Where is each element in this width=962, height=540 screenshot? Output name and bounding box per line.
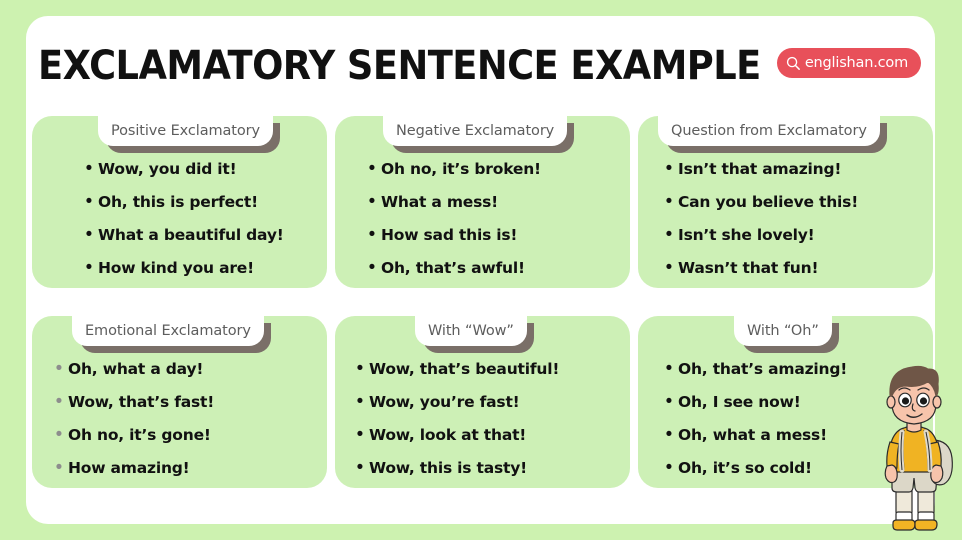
sentence-text: Oh, that’s awful! (381, 252, 525, 285)
bullet-icon: • (80, 218, 98, 251)
list-item: • Wow, you did it! (80, 152, 317, 185)
sentence-text: Wow, you did it! (98, 153, 236, 186)
sentence-text: Isn’t that amazing! (678, 153, 841, 186)
card-title: With “Oh” (747, 324, 819, 339)
bullet-icon: • (80, 185, 98, 218)
sentence-list: • Wow, that’s beautiful! • Wow, you’re f… (335, 352, 620, 484)
list-item: • Oh, that’s awful! (363, 251, 620, 284)
category-card-with-wow: With “Wow” • Wow, that’s beautiful! • Wo… (335, 316, 630, 488)
sentence-text: How amazing! (68, 452, 190, 485)
card-title: Emotional Exclamatory (85, 324, 251, 339)
list-item: • What a beautiful day! (80, 218, 317, 251)
bullet-icon: • (660, 251, 678, 284)
list-item: • How kind you are! (80, 251, 317, 284)
boy-with-backpack-illustration (866, 360, 962, 535)
bullet-icon: • (660, 352, 678, 385)
sentence-text: What a beautiful day! (98, 219, 284, 252)
bullet-icon: • (660, 152, 678, 185)
sentence-text: Wow, that’s fast! (68, 386, 214, 419)
bullet-icon: • (80, 152, 98, 185)
bullet-icon: • (50, 352, 68, 385)
sentence-text: How kind you are! (98, 252, 254, 285)
category-card-grid: Positive Exclamatory • Wow, you did it! … (32, 116, 936, 488)
card-tab: With “Wow” (415, 316, 527, 346)
sentence-text: Oh no, it’s gone! (68, 419, 211, 452)
sentence-text: Wasn’t that fun! (678, 252, 818, 285)
category-card-question-from-exclamatory: Question from Exclamatory • Isn’t that a… (638, 116, 933, 288)
sentence-text: Isn’t she lovely! (678, 219, 815, 252)
list-item: • Wow, that’s fast! (50, 385, 317, 418)
bullet-icon: • (50, 385, 68, 418)
card-tab: With “Oh” (734, 316, 832, 346)
bullet-icon: • (660, 385, 678, 418)
bullet-icon: • (363, 218, 381, 251)
card-title: Positive Exclamatory (111, 124, 260, 139)
card-title: With “Wow” (428, 324, 514, 339)
bullet-icon: • (660, 185, 678, 218)
sentence-text: Oh, that’s amazing! (678, 353, 847, 386)
bullet-icon: • (363, 152, 381, 185)
sentence-list: • Oh no, it’s broken! • What a mess! • H… (335, 152, 620, 284)
card-tab: Positive Exclamatory (98, 116, 273, 146)
poster-header: EXCLAMATORY SENTENCE EXAMPLE englishan.c… (38, 42, 925, 98)
sentence-text: What a mess! (381, 186, 498, 219)
bullet-icon: • (50, 451, 68, 484)
card-title: Negative Exclamatory (396, 124, 554, 139)
sentence-list: • Oh, what a day! • Wow, that’s fast! • … (32, 352, 317, 484)
magnifier-icon (785, 55, 802, 72)
sentence-text: Oh, this is perfect! (98, 186, 258, 219)
bullet-icon: • (660, 418, 678, 451)
sentence-text: Oh no, it’s broken! (381, 153, 541, 186)
bullet-icon: • (351, 451, 369, 484)
sentence-text: Oh, what a day! (68, 353, 203, 386)
card-tab: Question from Exclamatory (658, 116, 880, 146)
category-card-emotional-exclamatory: Emotional Exclamatory • Oh, what a day! … (32, 316, 327, 488)
list-item: • Isn’t she lovely! (660, 218, 923, 251)
list-item: • How amazing! (50, 451, 317, 484)
bullet-icon: • (363, 251, 381, 284)
bullet-icon: • (50, 418, 68, 451)
poster-root: EXCLAMATORY SENTENCE EXAMPLE englishan.c… (0, 0, 962, 540)
sentence-text: Oh, what a mess! (678, 419, 827, 452)
sentence-text: Wow, look at that! (369, 419, 526, 452)
bullet-icon: • (660, 218, 678, 251)
sentence-list: • Wow, you did it! • Oh, this is perfect… (32, 152, 317, 284)
sentence-text: Wow, that’s beautiful! (369, 353, 559, 386)
list-item: • Wow, that’s beautiful! (351, 352, 620, 385)
list-item: • Can you believe this! (660, 185, 923, 218)
card-title: Question from Exclamatory (671, 124, 867, 139)
category-card-positive-exclamatory: Positive Exclamatory • Wow, you did it! … (32, 116, 327, 288)
sentence-text: How sad this is! (381, 219, 517, 252)
page-title: EXCLAMATORY SENTENCE EXAMPLE (38, 42, 761, 90)
list-item: • Isn’t that amazing! (660, 152, 923, 185)
category-card-negative-exclamatory: Negative Exclamatory • Oh no, it’s broke… (335, 116, 630, 288)
list-item: • Oh, what a day! (50, 352, 317, 385)
list-item: • Wow, you’re fast! (351, 385, 620, 418)
sentence-list: • Isn’t that amazing! • Can you believe … (638, 152, 923, 284)
bullet-icon: • (80, 251, 98, 284)
list-item: • How sad this is! (363, 218, 620, 251)
list-item: • Oh no, it’s broken! (363, 152, 620, 185)
bullet-icon: • (351, 385, 369, 418)
brand-badge[interactable]: englishan.com (777, 48, 921, 78)
sentence-text: Oh, I see now! (678, 386, 801, 419)
card-tab: Emotional Exclamatory (72, 316, 264, 346)
brand-name: englishan.com (805, 56, 908, 71)
bullet-icon: • (351, 418, 369, 451)
card-tab: Negative Exclamatory (383, 116, 567, 146)
sentence-text: Wow, this is tasty! (369, 452, 527, 485)
list-item: • Wow, look at that! (351, 418, 620, 451)
list-item: • Oh no, it’s gone! (50, 418, 317, 451)
sentence-text: Can you believe this! (678, 186, 858, 219)
sentence-text: Wow, you’re fast! (369, 386, 520, 419)
bullet-icon: • (660, 451, 678, 484)
list-item: • Wasn’t that fun! (660, 251, 923, 284)
list-item: • Oh, this is perfect! (80, 185, 317, 218)
bullet-icon: • (363, 185, 381, 218)
list-item: • Wow, this is tasty! (351, 451, 620, 484)
bullet-icon: • (351, 352, 369, 385)
sentence-text: Oh, it’s so cold! (678, 452, 812, 485)
content-panel: EXCLAMATORY SENTENCE EXAMPLE englishan.c… (26, 16, 935, 524)
list-item: • What a mess! (363, 185, 620, 218)
